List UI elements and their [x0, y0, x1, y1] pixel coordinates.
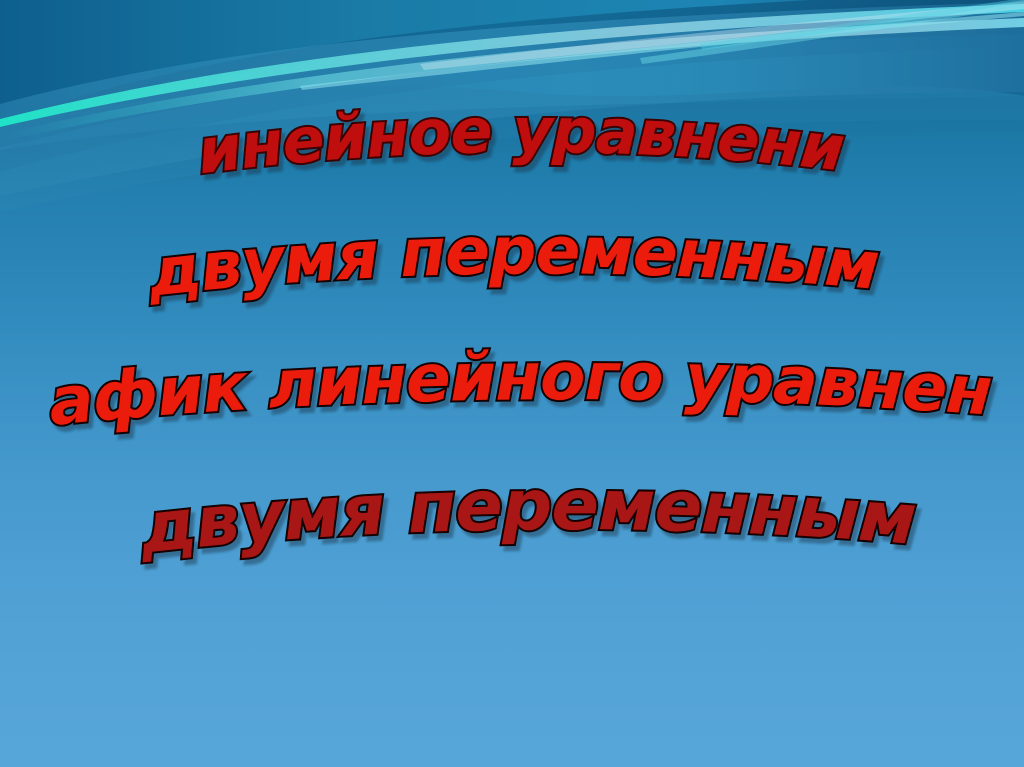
title-line-3: График линейного уравнения — [0, 330, 1024, 438]
title-line-2-svg: с двумя переменными. — [0, 204, 1024, 308]
presentation-slide: Линейное уравнение с двумя переменными. — [0, 0, 1024, 767]
title-line-4-svg: с двумя переменными — [0, 456, 1024, 566]
title-line-4: с двумя переменными — [0, 456, 1024, 566]
title-line-3-svg: График линейного уравнения — [0, 330, 1024, 438]
title-line-1: Линейное уравнение — [0, 78, 1024, 186]
slide-title-block: Линейное уравнение с двумя переменными. — [0, 78, 1024, 566]
title-line-1-svg: Линейное уравнение — [0, 78, 1024, 186]
svg-text:Линейное уравнение: Линейное уравнение — [0, 20, 847, 188]
title-line-1-text: Линейное уравнение — [0, 20, 847, 188]
title-line-2: с двумя переменными. — [0, 204, 1024, 308]
